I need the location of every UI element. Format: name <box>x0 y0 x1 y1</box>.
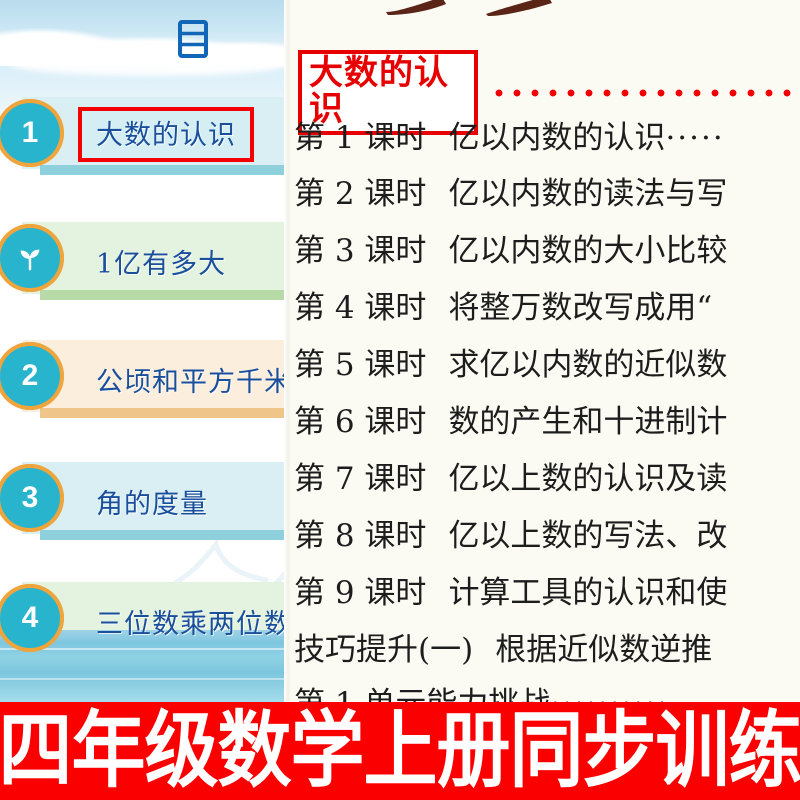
chapter-row-underline <box>40 165 284 175</box>
banner-title: 四年级数学上册同步训练 <box>0 710 800 793</box>
toc-entry[interactable]: 第 6 课时数的产生和十进制计 <box>294 396 727 441</box>
water-highlight-line <box>0 678 284 680</box>
sidebar-item-chapter-sprout[interactable]: 1亿有多大 <box>22 222 284 294</box>
toc-entry[interactable]: 第 3 课时亿以内数的大小比较 <box>294 225 727 270</box>
chapter-badge-label: 2 <box>22 359 39 393</box>
chapter-badge-label: 4 <box>22 601 39 635</box>
chapter-row-underline <box>40 530 284 540</box>
chapter-badge-label: 1 <box>22 116 39 150</box>
toc-title: 亿以上数的认识及读 <box>448 461 727 497</box>
sidebar-item-chapter-3[interactable]: 3 角的度量 <box>22 462 284 534</box>
toc-lesson: 第 1 单元能力挑战 <box>294 686 550 702</box>
toc-title: 亿以内数的大小比较 <box>448 233 727 269</box>
contents-list-icon <box>178 20 208 58</box>
chapter-label-4[interactable]: 三位数乘两位数 <box>96 602 284 641</box>
toc-lesson: 第 8 课时 <box>294 518 426 554</box>
toc-entry[interactable]: 第 8 课时亿以上数的写法、改 <box>294 510 727 555</box>
toc-entry[interactable]: 第 1 课时亿以内数的认识····· <box>294 112 725 157</box>
screenshot-root: 1 大数的认识 1亿有多大 2 <box>0 0 800 800</box>
toc-entry[interactable]: 第 9 课时计算工具的认识和使 <box>294 567 727 612</box>
toc-title: 数的产生和十进制计 <box>448 404 727 440</box>
toc-lesson: 第 7 课时 <box>294 461 426 497</box>
book-cover-left-panel: 1 大数的认识 1亿有多大 2 <box>0 0 284 702</box>
toc-title: 求亿以内数的近似数 <box>448 347 727 383</box>
chapter-badge-3: 3 <box>0 468 60 528</box>
chapter-label-3[interactable]: 角的度量 <box>96 482 208 521</box>
toc-lesson: 技巧提升(一) <box>294 632 473 668</box>
toc-entry[interactable]: 技巧提升(一)根据近似数逆推 <box>294 624 712 669</box>
toc-entry[interactable]: 第 7 课时亿以上数的认识及读 <box>294 453 727 498</box>
sprout-icon <box>0 228 60 288</box>
toc-title: 亿以内数的读法与写 <box>448 176 727 212</box>
sidebar-item-chapter-1[interactable]: 1 大数的认识 <box>22 97 284 169</box>
book-inner-page-right-panel: 大数的认识 第 1 课时亿以内数的认识····· 第 2 课时亿以内数的读法与写… <box>284 0 800 702</box>
cloud-wisp <box>10 52 284 76</box>
toc-entry[interactable]: 第 1 单元能力挑战·········· <box>294 678 669 702</box>
cropped-title-glyph <box>380 0 452 21</box>
toc-title: 亿以上数的写法、改 <box>448 518 727 554</box>
toc-title: 亿以内数的认识 <box>448 120 665 156</box>
chapter-badge-label: 3 <box>22 481 39 515</box>
leader-dots <box>494 88 800 98</box>
toc-title: 将整万数改写成用“ <box>448 290 712 326</box>
chapter-label-2[interactable]: 公顷和平方千米 <box>96 360 284 399</box>
toc-entry[interactable]: 第 5 课时求亿以内数的近似数 <box>294 339 727 384</box>
chapter-row-underline <box>40 290 284 300</box>
toc-lesson: 第 2 课时 <box>294 176 426 212</box>
toc-title: 计算工具的认识和使 <box>448 575 727 611</box>
bottom-promo-banner: 四年级数学上册同步训练 <box>0 702 800 800</box>
toc-lesson: 第 3 课时 <box>294 233 426 269</box>
page-gutter <box>284 0 291 702</box>
chapter-badge-4: 4 <box>0 588 60 648</box>
toc-entry[interactable]: 第 2 课时亿以内数的读法与写 <box>294 168 727 213</box>
chapter-badge-2: 2 <box>0 346 60 406</box>
cropped-title-glyph <box>482 0 558 21</box>
toc-lesson: 第 4 课时 <box>294 290 426 326</box>
toc-lesson: 第 1 课时 <box>294 120 426 156</box>
chapter-label-sprout[interactable]: 1亿有多大 <box>96 242 226 281</box>
chapter-badge-1: 1 <box>0 103 60 163</box>
toc-trail: ·········· <box>550 686 669 702</box>
toc-lesson: 第 5 课时 <box>294 347 426 383</box>
toc-trail: ····· <box>665 120 724 156</box>
toc-title: 根据近似数逆推 <box>495 632 712 668</box>
toc-lesson: 第 9 课时 <box>294 575 426 611</box>
toc-lesson: 第 6 课时 <box>294 404 426 440</box>
chapter-row-underline <box>40 408 284 418</box>
chapter-label-1[interactable]: 大数的认识 <box>82 111 250 158</box>
toc-entry[interactable]: 第 4 课时将整万数改写成用“ <box>294 282 712 327</box>
sidebar-item-chapter-2[interactable]: 2 公顷和平方千米 <box>22 340 284 412</box>
